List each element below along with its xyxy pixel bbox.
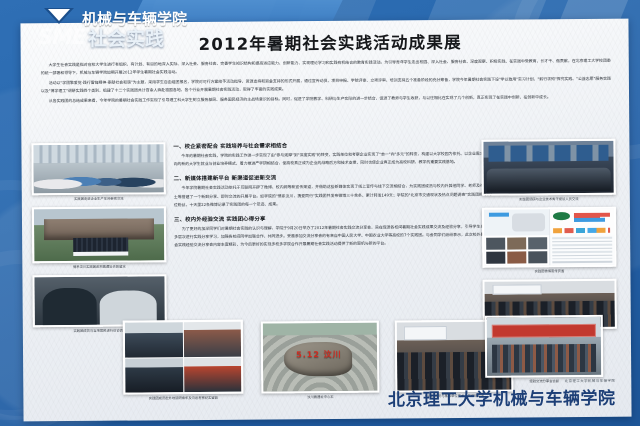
photo-caption: 情系汶川实践团赴地震遗址合影留念 bbox=[32, 264, 166, 270]
section-block: 三、校内外经验交流 实践团心得分享 为了更好的加深同学们对暑期社会实践的认识与理… bbox=[174, 213, 492, 250]
photo-card: 实践团走进企业生产车间参观交流 bbox=[31, 142, 165, 202]
left-photo-column: 实践团走进企业生产车间参观交流 情系汶川实践团赴地震遗址合影留念 实践团成员与当… bbox=[31, 142, 167, 339]
section-block: 一、校企紧密配合 实践培养与社会需求相结合 今年的暑期社会实践，学院的实践工作进… bbox=[173, 140, 491, 169]
sections-column: 一、校企紧密配合 实践培养与社会需求相结合 今年的暑期社会实践，学院的实践工作进… bbox=[173, 140, 492, 256]
weibo-screenshot bbox=[482, 207, 616, 268]
footer-brand: 北京理工大学机械与车辆学院 北京理工大学机械与车辆学院 bbox=[388, 378, 616, 411]
group-banner-photo bbox=[485, 315, 603, 378]
photo-caption: 实践团调研与企业技术骨干座谈人员交流 bbox=[482, 197, 616, 203]
right-photo-column: 实践团调研与企业技术骨干座谈人员交流 bbox=[481, 139, 617, 342]
page-title: 2012年暑期社会实践活动成果展 bbox=[199, 29, 462, 55]
section-heading: 二、新媒体搭建新平台 新渠道促进新交流 bbox=[174, 172, 492, 182]
section-body: 为了更好的加深同学们对暑期社会实践的认识与理解，学院于9月20日举办了2012年… bbox=[174, 223, 492, 250]
section-block: 二、新媒体搭建新平台 新渠道促进新交流 今年学院暑期社会实践活动依托于互联网开辟… bbox=[174, 172, 492, 209]
photo-caption: 实践团成员赴外地调研乘车及沿途考察纪实留影 bbox=[123, 396, 243, 402]
footer-title: 北京理工大学机械与车辆学院 bbox=[388, 384, 616, 411]
photo-caption: 汶川震遗址中心石 bbox=[261, 395, 379, 401]
college-logo: 机械与车辆学院 SME 社会实践 bbox=[36, 4, 226, 50]
photo-card: 实践团调研与企业技术骨干座谈人员交流 bbox=[481, 139, 615, 203]
earthquake-site-photo bbox=[32, 206, 166, 263]
section-heading: 一、校企紧密配合 实践培养与社会需求相结合 bbox=[173, 140, 491, 150]
photo-card: 5.12 汶川 汶川震遗址中心石 bbox=[261, 321, 380, 401]
memorial-stone-photo: 5.12 汶川 bbox=[261, 321, 380, 394]
photo-card: 经验交流分享会合影 bbox=[485, 315, 604, 385]
factory-visit-photo bbox=[31, 142, 165, 195]
intro-text-block: 大学生社会实践是指对在校大学生进行有组织、有计划、有目的地深入实际、深入社会、服… bbox=[41, 57, 611, 107]
title-bar: 2012年暑期社会实践活动成果展 bbox=[198, 26, 598, 57]
poster-sheet: 2012年暑期社会实践活动成果展 大学生社会实践是指对在校大学生进行有组织、有计… bbox=[20, 19, 631, 422]
photo-card: 实践团成员赴外地调研乘车及沿途考察纪实留影 bbox=[123, 320, 244, 402]
logo-sme-text: SME bbox=[38, 25, 85, 49]
logo-subtitle: 社会实践 bbox=[88, 24, 164, 50]
stone-inscription: 5.12 汶川 bbox=[293, 350, 346, 359]
meeting-room-photo bbox=[481, 139, 615, 196]
poster-canvas: 2012年暑期社会实践活动成果展 大学生社会实践是指对在校大学生进行有组织、有计… bbox=[0, 0, 640, 426]
section-body: 今年的暑期社会实践，学院的实践工作进一步实现了由"参与观摩"到"深度实践"的转变… bbox=[173, 150, 491, 169]
photo-caption: 实践团微博宣传页面 bbox=[482, 269, 616, 275]
travel-grid-photo bbox=[123, 320, 244, 395]
photo-card: 实践团微博宣传页面 bbox=[482, 207, 617, 275]
section-body: 今年学院暑期社会实践活动依托于互联网开辟了微博、校内网等新宣传渠道，并借助这些新… bbox=[174, 182, 492, 209]
photo-card: 情系汶川实践团赴地震遗址合影留念 bbox=[32, 206, 166, 270]
interview-photo bbox=[32, 274, 166, 327]
section-heading: 三、校内外经验交流 实践团心得分享 bbox=[174, 213, 492, 223]
photo-caption: 实践团走进企业生产车间参观交流 bbox=[32, 196, 166, 202]
